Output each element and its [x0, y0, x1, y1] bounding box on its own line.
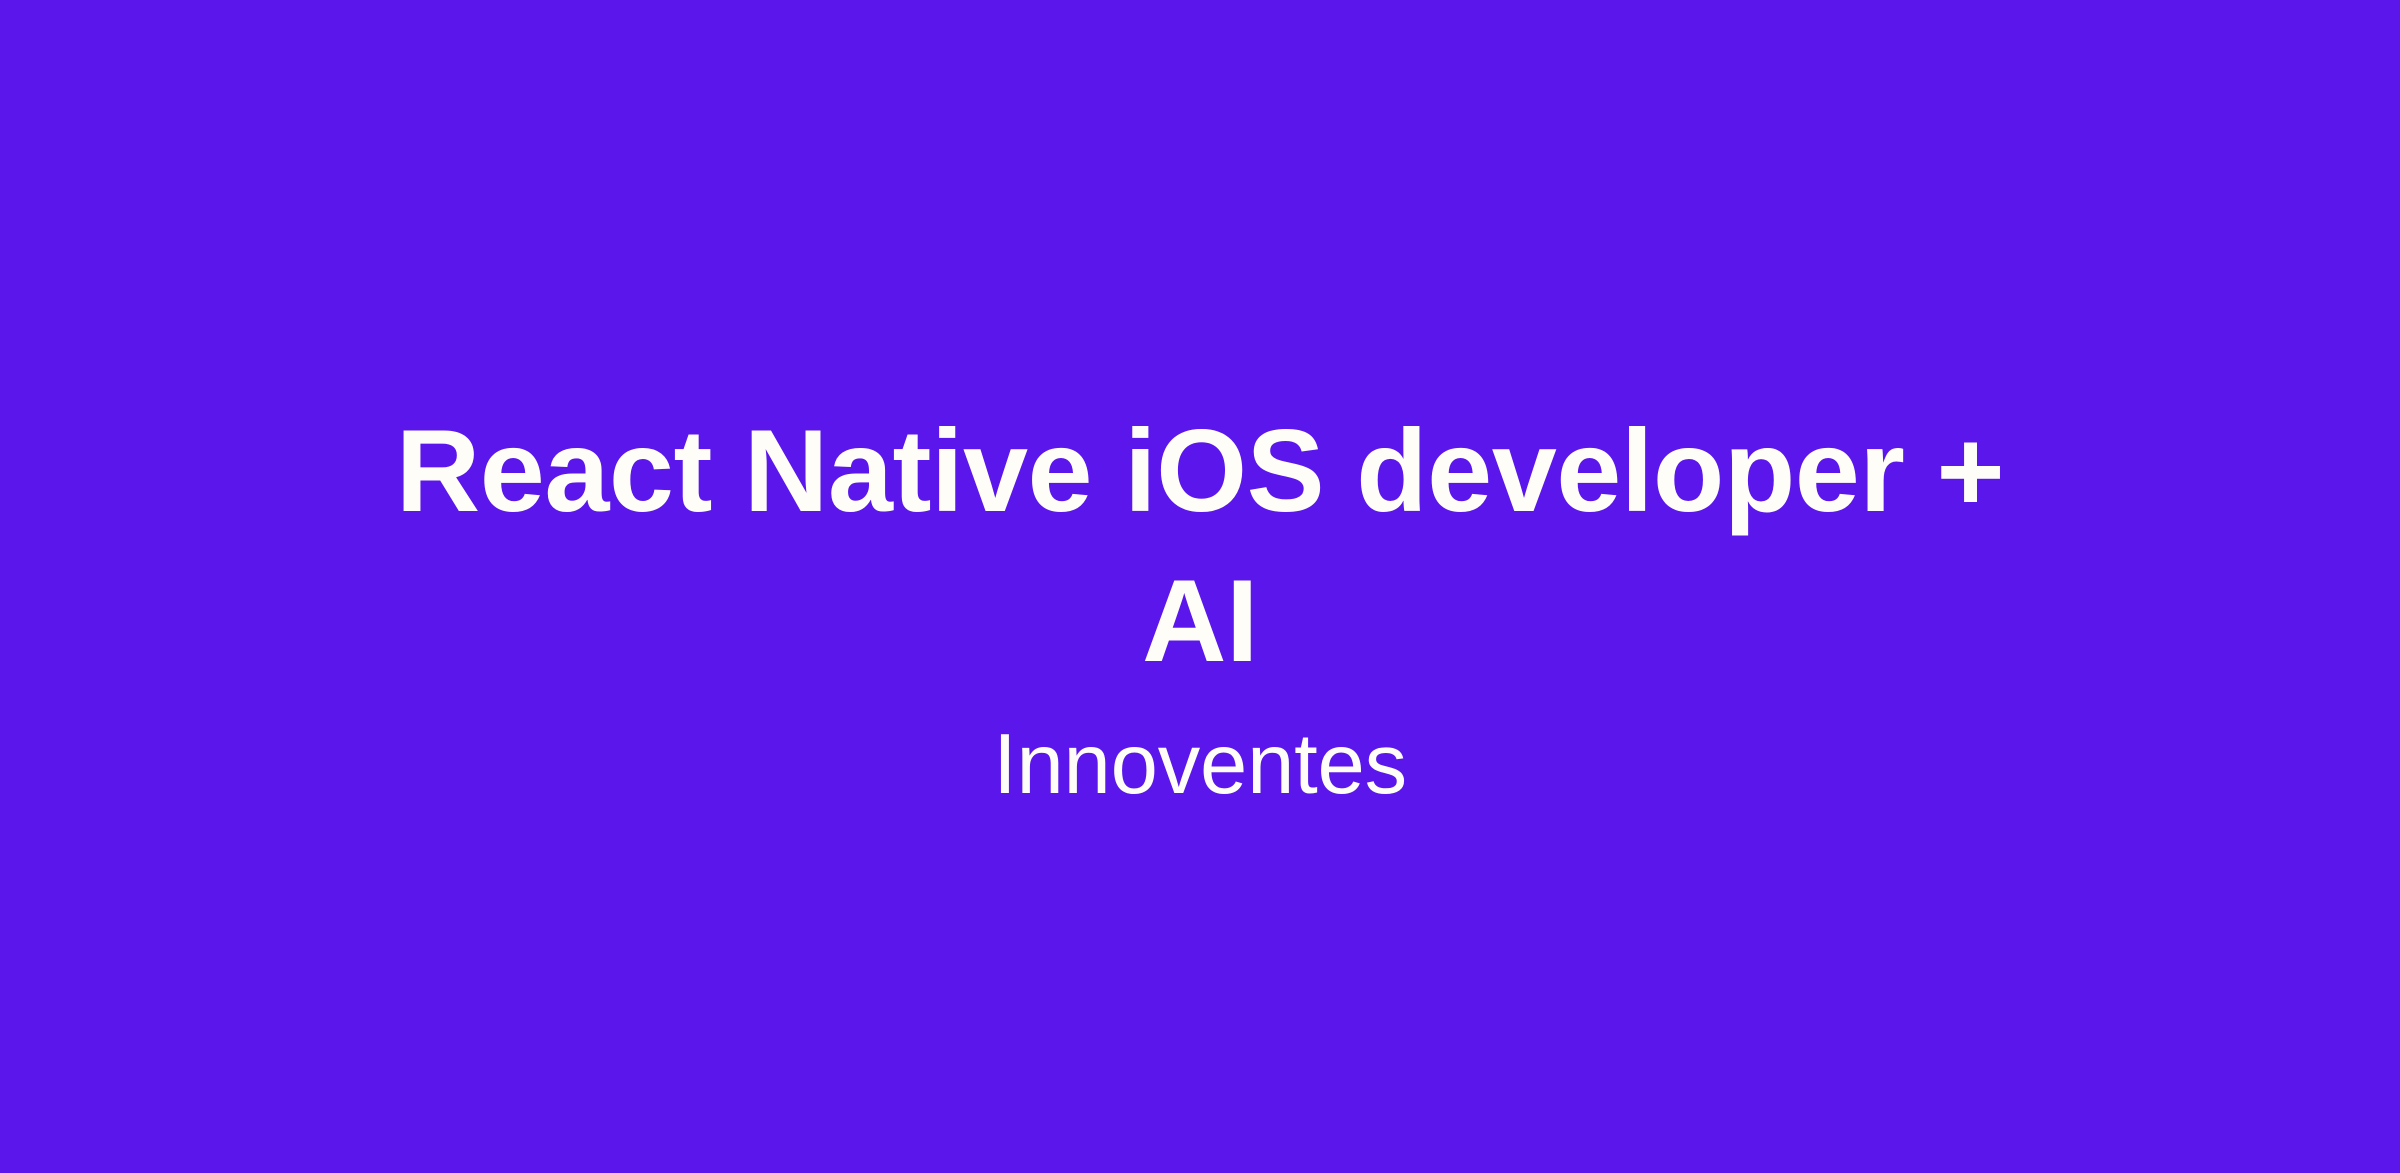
job-title: React Native iOS developer + AI [350, 396, 2050, 696]
hero-content: React Native iOS developer + AI Innovent… [0, 396, 2400, 811]
job-hero-banner: React Native iOS developer + AI Innovent… [0, 0, 2400, 1173]
company-name: Innoventes [993, 718, 1407, 812]
